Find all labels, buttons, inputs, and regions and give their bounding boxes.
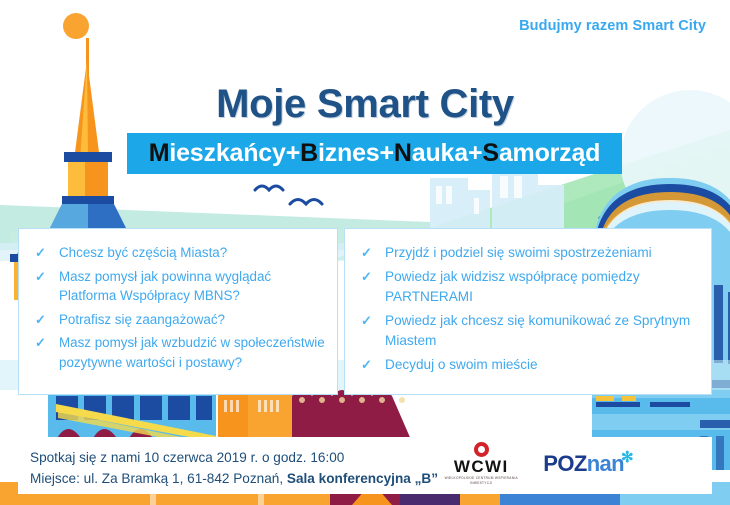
banner-rest-s: amorząd xyxy=(499,139,600,167)
list-item-label: Powiedz jak widzisz współpracę pomiędzy … xyxy=(385,269,640,305)
poster-canvas: Budujmy razem Smart City Moje Smart City… xyxy=(0,0,730,505)
questions-list-right: ✓ Przyjdź i podziel się swoimi spostrzeż… xyxy=(345,229,711,375)
check-icon: ✓ xyxy=(35,267,46,287)
questions-box-right: ✓ Przyjdź i podziel się swoimi spostrzeż… xyxy=(344,228,712,395)
check-icon: ✓ xyxy=(35,333,46,353)
list-item-label: Masz pomysł jak powinna wyglądać Platfor… xyxy=(59,269,271,304)
footer-bar: Spotkaj się z nami 10 czerwca 2019 r. o … xyxy=(18,437,712,494)
check-icon: ✓ xyxy=(361,243,372,263)
logo-group: WCWI WIELKOPOLSKIE CENTRUM WSPIERANIA IN… xyxy=(435,442,624,486)
banner-cap-b: B xyxy=(300,139,318,167)
footer-line-date: Spotkaj się z nami 10 czerwca 2019 r. o … xyxy=(30,447,438,468)
banner-plus-1: + xyxy=(286,139,300,167)
check-icon: ✓ xyxy=(35,310,46,330)
list-item: ✓ Przyjdź i podziel się swoimi spostrzeż… xyxy=(359,243,701,264)
banner-plus-3: + xyxy=(468,139,482,167)
footer-line-place: Miejsce: ul. Za Bramką 1, 61-842 Poznań,… xyxy=(30,468,438,489)
asterisk-icon: ✻ xyxy=(621,446,633,470)
banner-cap-m: M xyxy=(149,139,170,167)
poznan-part-1: POZ xyxy=(543,451,586,476)
questions-box-left: ✓ Chcesz być częścią Miasta? ✓ Masz pomy… xyxy=(18,228,338,395)
footer-room: Sala konferencyjna „B” xyxy=(287,471,438,486)
wcwi-emblem-icon xyxy=(474,442,489,457)
list-item: ✓ Powiedz jak chcesz się komunikować ze … xyxy=(359,311,701,352)
list-item: ✓ Decyduj o swoim mieście xyxy=(359,355,701,376)
list-item-label: Powiedz jak chcesz się komunikować ze Sp… xyxy=(385,313,690,349)
poznan-part-2: nan xyxy=(587,451,624,476)
list-item: ✓ Powiedz jak widzisz współpracę pomiędz… xyxy=(359,267,701,308)
list-item-label: Masz pomysł jak wzbudzić w społeczeństwi… xyxy=(59,335,325,370)
check-icon: ✓ xyxy=(35,243,46,263)
check-icon: ✓ xyxy=(361,311,372,331)
tagline: Budujmy razem Smart City xyxy=(0,18,706,34)
list-item-label: Potrafisz się zaangażować? xyxy=(59,312,225,327)
list-item-label: Przyjdź i podziel się swoimi spostrzeżen… xyxy=(385,245,652,260)
list-item: ✓ Chcesz być częścią Miasta? xyxy=(33,243,327,263)
subtitle-banner: Mieszkańcy+Biznes+Nauka+Samorząd xyxy=(127,133,622,174)
banner-rest-n: auka xyxy=(412,139,468,167)
wcwi-logo: WCWI WIELKOPOLSKIE CENTRUM WSPIERANIA IN… xyxy=(435,442,527,486)
page-title: Moje Smart City xyxy=(0,82,730,127)
list-item: ✓ Potrafisz się zaangażować? xyxy=(33,310,327,330)
questions-list-left: ✓ Chcesz być częścią Miasta? ✓ Masz pomy… xyxy=(19,229,337,372)
banner-plus-2: + xyxy=(380,139,394,167)
wcwi-subtext: WIELKOPOLSKIE CENTRUM WSPIERANIA INWESTY… xyxy=(435,476,527,486)
banner-cap-n: N xyxy=(394,139,412,167)
footer-details: Spotkaj się z nami 10 czerwca 2019 r. o … xyxy=(30,447,438,489)
banner-rest-m: ieszkańcy xyxy=(169,139,285,167)
poznan-logo: POZnan✻ xyxy=(543,452,624,476)
list-item: ✓ Masz pomysł jak powinna wyglądać Platf… xyxy=(33,267,327,306)
banner-text: Mieszkańcy+Biznes+Nauka+Samorząd xyxy=(149,139,601,168)
check-icon: ✓ xyxy=(361,267,372,287)
list-item: ✓ Masz pomysł jak wzbudzić w społeczeńst… xyxy=(33,333,327,372)
wcwi-wordmark: WCWI xyxy=(435,458,527,476)
banner-cap-s: S xyxy=(482,139,498,167)
list-item-label: Decyduj o swoim mieście xyxy=(385,357,538,372)
banner-rest-b: iznes xyxy=(318,139,380,167)
list-item-label: Chcesz być częścią Miasta? xyxy=(59,245,227,260)
check-icon: ✓ xyxy=(361,355,372,375)
footer-place-prefix: Miejsce: ul. Za Bramką 1, 61-842 Poznań, xyxy=(30,471,287,486)
